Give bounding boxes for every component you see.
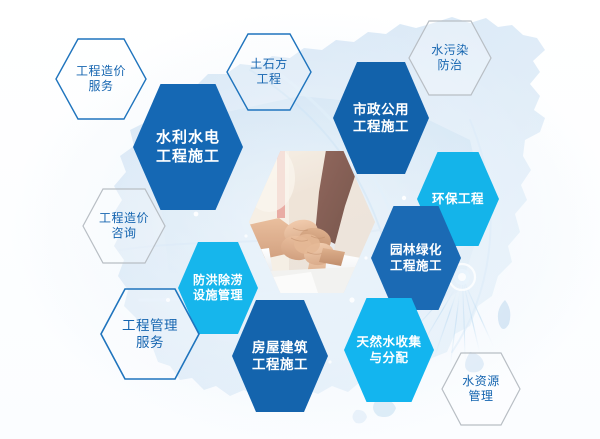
hex-label-line: 土石方 xyxy=(250,57,288,72)
hex-label-line: 天然水收集 xyxy=(356,334,421,350)
hex-earth-rock-works[interactable]: 土石方 工程 xyxy=(226,33,312,111)
hex-label-line: 市政公用 xyxy=(353,101,409,118)
hex-label-line: 园林绿化 xyxy=(390,242,442,258)
hex-label-line: 设施管理 xyxy=(193,288,243,303)
hex-label-line: 工程造价 xyxy=(99,211,149,226)
hex-label-line: 咨询 xyxy=(99,226,149,241)
hex-label: 水资源 管理 xyxy=(462,374,500,405)
hex-engineering-cost-consulting[interactable]: 工程造价 咨询 xyxy=(82,188,166,264)
hex-label-line: 防治 xyxy=(431,58,469,73)
hex-engineering-cost-service[interactable]: 工程造价 服务 xyxy=(55,38,147,120)
hex-label: 工程造价 服务 xyxy=(76,64,126,95)
hex-label-line: 防洪除涝 xyxy=(193,273,243,288)
hex-label-line: 服务 xyxy=(122,334,178,351)
hex-label-line: 工程施工 xyxy=(390,258,442,274)
hex-label-line: 管理 xyxy=(462,389,500,404)
hex-housing-building-construction[interactable]: 房屋建筑 工程施工 xyxy=(232,300,328,412)
hex-label-line: 水污染 xyxy=(431,43,469,58)
hex-label-line: 房屋建筑 xyxy=(252,339,308,356)
infographic-canvas: 工程造价 服务 土石方 工程 水利水电 工程施工 市政公用 工程施工 水污染 防… xyxy=(0,0,600,439)
hex-label: 工程管理 服务 xyxy=(122,317,178,352)
hex-label: 工程造价 咨询 xyxy=(99,211,149,242)
hex-label-line: 工程施工 xyxy=(353,118,409,135)
hex-label-line: 工程 xyxy=(250,72,288,87)
hex-label: 土石方 工程 xyxy=(250,57,288,88)
hex-label-line: 工程施工 xyxy=(252,356,308,373)
hex-label-line: 工程造价 xyxy=(76,64,126,79)
hex-label-line: 环保工程 xyxy=(432,191,484,207)
hex-water-pollution-control[interactable]: 水污染 防治 xyxy=(408,20,492,96)
hex-label-line: 水利水电 xyxy=(156,128,220,147)
hex-natural-water-collection-distribution[interactable]: 天然水收集 与分配 xyxy=(344,298,434,402)
hex-label-line: 与分配 xyxy=(369,350,408,366)
hex-label: 水污染 防治 xyxy=(431,43,469,74)
hex-label-line: 水资源 xyxy=(462,374,500,389)
hex-label-line: 工程管理 xyxy=(122,317,178,334)
hex-water-resource-management[interactable]: 水资源 管理 xyxy=(441,352,521,426)
hex-label-line: 工程施工 xyxy=(156,147,220,166)
hex-project-management-service[interactable]: 工程管理 服务 xyxy=(100,288,200,380)
hex-label-line: 服务 xyxy=(76,79,126,94)
